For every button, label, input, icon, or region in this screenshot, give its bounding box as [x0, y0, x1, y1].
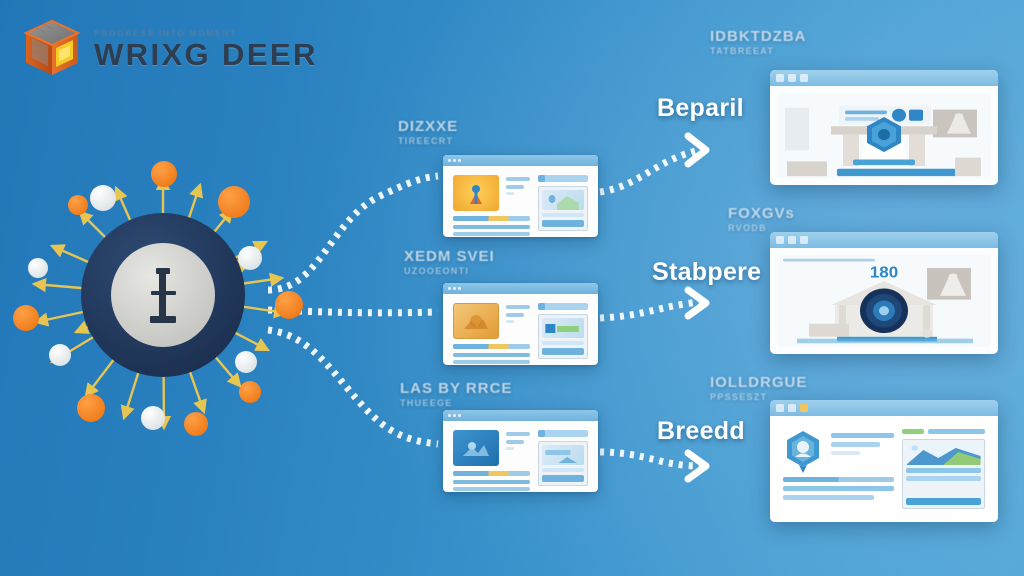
- window-control-icon: [788, 236, 796, 244]
- right-card-1-caption: IDBKTDZBA TATBREEAT: [710, 28, 807, 56]
- window-control-icon: [788, 404, 796, 412]
- card-1-caption: DIZXXE TIREECRT: [398, 118, 458, 146]
- card-1-chip[interactable]: [538, 175, 588, 182]
- text-line: [506, 432, 530, 436]
- window-dot-icon: [453, 287, 456, 290]
- window-control-icon: [776, 404, 784, 412]
- text-line: [453, 225, 530, 229]
- text-line: [506, 305, 530, 309]
- card-2-caption: XEDM SVEI UZOOEONTI: [404, 248, 495, 276]
- window-control-icon: [776, 236, 784, 244]
- text-line: [542, 468, 584, 472]
- window-control-icon: [800, 404, 808, 412]
- text-line: [831, 451, 860, 455]
- central-hub: [18, 150, 308, 440]
- text-line: [453, 487, 530, 491]
- right-card-1[interactable]: [770, 70, 998, 185]
- window-dot-icon: [448, 159, 451, 162]
- text-line: [831, 433, 894, 438]
- card-3-chip[interactable]: [538, 430, 588, 437]
- highlighted-line: [453, 344, 530, 349]
- text-line: [783, 486, 894, 491]
- panel-thumbnail: [542, 445, 584, 465]
- brand-logo: PROGRESS INTO MOMENT WRIXG DEER: [22, 18, 318, 80]
- text-line: [506, 320, 514, 323]
- text-line: [906, 468, 981, 473]
- text-line: [453, 232, 530, 236]
- panel-button[interactable]: [542, 475, 584, 482]
- card-3-panel: [538, 441, 588, 486]
- panel-button[interactable]: [542, 348, 584, 355]
- card-2[interactable]: [443, 283, 598, 365]
- brand-tagline: PROGRESS INTO MOMENT: [94, 28, 318, 38]
- panel-thumbnail: [542, 318, 584, 338]
- window-dot-icon: [458, 287, 461, 290]
- right-card-3-caption: IOLLDRGUE PPSSESZT: [710, 374, 807, 402]
- poster-canvas: PROGRESS INTO MOMENT WRIXG DEER: [0, 0, 1024, 576]
- card-2-panel: [538, 314, 588, 359]
- right-card-2[interactable]: 180: [770, 232, 998, 354]
- scene-dashboard: [777, 423, 991, 515]
- panel-button[interactable]: [542, 220, 584, 227]
- window-dot-icon: [458, 414, 461, 417]
- window-dot-icon: [453, 159, 456, 162]
- text-line: [506, 185, 524, 189]
- window-control-icon: [788, 74, 796, 82]
- card-3-caption: LAS BY RRCE THUEEGE: [400, 380, 512, 408]
- area-chart-thumbnail: [906, 443, 981, 465]
- window-dot-icon: [453, 414, 456, 417]
- right-card-2-titlebar: [770, 232, 998, 248]
- text-line: [453, 480, 530, 484]
- text-line: [506, 447, 514, 450]
- card-1-titlebar: [443, 155, 598, 166]
- window-control-icon: [776, 74, 784, 82]
- text-line: [506, 313, 524, 317]
- text-line: [831, 442, 880, 447]
- label-stabpere: Stabpere: [652, 258, 761, 287]
- brand-name: WRIXG DEER: [94, 39, 318, 70]
- text-line: [542, 341, 584, 345]
- card-3[interactable]: [443, 410, 598, 492]
- highlighted-line: [783, 477, 894, 482]
- label-breedd: Breedd: [657, 417, 745, 446]
- card-1[interactable]: [443, 155, 598, 237]
- window-dot-icon: [448, 287, 451, 290]
- right-card-3-titlebar: [770, 400, 998, 416]
- chart-panel: [902, 439, 985, 509]
- chip-icon: [538, 430, 545, 437]
- text-line: [906, 476, 981, 481]
- text-line: [506, 440, 524, 444]
- right-card-1-titlebar: [770, 70, 998, 86]
- text-line: [453, 360, 530, 364]
- card-1-panel: [538, 186, 588, 231]
- scene-lab-bench: [777, 93, 991, 178]
- chip-icon: [538, 175, 545, 182]
- text-line: [506, 192, 514, 195]
- label-beparil: Beparil: [657, 94, 744, 123]
- chip-icon: [538, 303, 545, 310]
- panel-thumbnail: [542, 190, 584, 210]
- window-control-icon: [800, 236, 808, 244]
- card-1-thumbnail: [453, 175, 499, 211]
- window-dot-icon: [448, 414, 451, 417]
- hex-badge-icon: [783, 429, 823, 471]
- card-2-chip[interactable]: [538, 303, 588, 310]
- window-control-icon: [800, 74, 808, 82]
- card-3-titlebar: [443, 410, 598, 421]
- scene-bank-vault: 180: [777, 255, 991, 347]
- status-badge: [902, 429, 923, 434]
- highlighted-line: [453, 471, 530, 476]
- card-2-titlebar: [443, 283, 598, 294]
- card-3-thumbnail: [453, 430, 499, 466]
- text-line: [783, 495, 874, 500]
- brand-text: PROGRESS INTO MOMENT WRIXG DEER: [94, 28, 318, 70]
- window-dot-icon: [458, 159, 461, 162]
- text-line: [928, 429, 985, 434]
- card-2-thumbnail: [453, 303, 499, 339]
- text-line: [542, 213, 584, 217]
- right-card-3[interactable]: [770, 400, 998, 522]
- text-line: [453, 353, 530, 357]
- text-line: [506, 177, 530, 181]
- orange-cube-icon: [22, 18, 82, 80]
- right-card-2-caption: FOXGVs RVODB: [728, 205, 795, 233]
- highlighted-line: [453, 216, 530, 221]
- vault-number: 180: [870, 264, 898, 281]
- panel-button[interactable]: [906, 498, 981, 505]
